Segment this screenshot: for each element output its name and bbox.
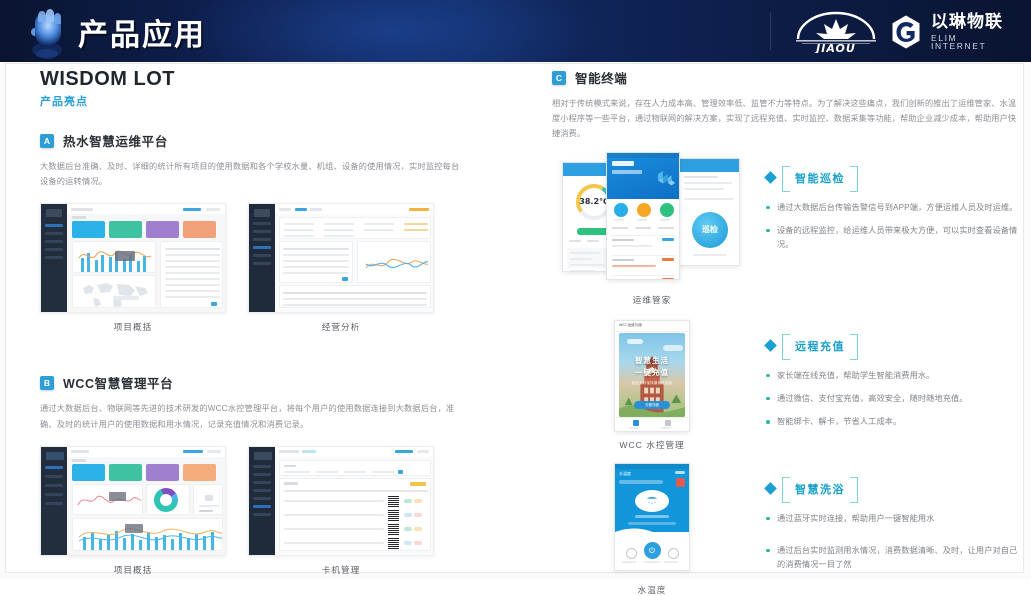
wave-divider-icon <box>615 526 690 538</box>
donut-chart-icon <box>147 485 191 516</box>
jiaou-logo: JIAOU <box>790 9 882 53</box>
section-b: B WCC智慧管理平台 通过大数据后台、物联网等先进的技术研发的WCC水控管理平… <box>40 373 460 575</box>
mini-actions <box>206 208 220 211</box>
feature-wcc-phones: WCC运维与面 <box>552 320 752 436</box>
screenshot-card-machine-wrap: 卡机管理 <box>248 446 434 576</box>
header-glow <box>180 0 600 62</box>
line-chart-icon <box>358 242 432 284</box>
mini-sidebar <box>41 204 67 312</box>
fist-icon <box>18 2 76 60</box>
list-item: 通过蓝牙实时连接，帮助用户一键智能用水 <box>766 512 1020 526</box>
screenshot-business-analysis[interactable] <box>248 203 434 313</box>
patrol-button[interactable]: 巡检 <box>692 212 728 248</box>
feature-wcc: WCC运维与面 <box>552 320 1020 439</box>
mini-content <box>275 214 433 312</box>
page-title: 产品应用 <box>78 10 206 54</box>
wcc-app-title: WCC运维与面 <box>619 323 642 328</box>
mini-filter-panel <box>279 217 431 239</box>
poster-line-1: 智慧生活 <box>619 355 685 366</box>
mini-line-chart-panel <box>357 241 431 283</box>
section-b-title: WCC智慧管理平台 <box>63 373 173 392</box>
tagline-smart-patrol: 智能巡检 <box>766 166 1020 190</box>
screenshot-business-analysis-wrap: 经营分析 <box>248 203 434 333</box>
mini-content <box>67 214 225 312</box>
header-divider <box>770 12 771 50</box>
elim-mark-icon <box>888 14 924 50</box>
feature-ops-caption: 运维管家 <box>552 294 752 306</box>
mini-nav-item <box>45 240 63 243</box>
screenshot-caption: 项目概括 <box>40 321 226 333</box>
section-b-head: B WCC智慧管理平台 <box>40 373 460 392</box>
section-b-body: 通过大数据后台、物联网等先进的技术研发的WCC水控管理平台，将每个用户的使用数据… <box>40 401 460 431</box>
list-item: 通过大数据后台传输告警信号到APP端，方便运维人员及时运维。 <box>766 201 1020 215</box>
page-header: 产品应用 JIAOU 以琳物联 ELIM INTERNET <box>0 0 1031 62</box>
feature-wcc-bullets: 家长端在线充值，帮助学生智能消费用水。 通过微信、支付宝充值，高效安全，随时随地… <box>766 369 1020 430</box>
page-root: 产品应用 JIAOU 以琳物联 ELIM INTERNET WISDOM LOT… <box>0 0 1031 579</box>
mini-world-map-panel <box>72 275 156 308</box>
stat-card <box>109 221 142 238</box>
section-a: A 热水智慧运维平台 大数据后台准确、及时、详细的统计所有项目的使用数据和各个学… <box>40 131 460 333</box>
water-temp-app-title: 水温度 <box>619 471 631 477</box>
wisdom-title: WISDOM LOT <box>40 68 460 91</box>
screenshot-card-machine-management[interactable] <box>248 446 434 556</box>
section-c-badge: C <box>552 71 566 85</box>
feature-ops-text: 智能巡检 通过大数据后台传输告警信号到APP端，方便运维人员及时运维。 设备的远… <box>752 152 1020 262</box>
section-a-screenshots: 项目概括 <box>40 203 460 333</box>
mini-nav-item <box>45 248 63 251</box>
list-item: 设备的远程监控，给运维人员带来极大方便，可以实时查看设备情况。 <box>766 224 1020 253</box>
tagline-label: 智慧洗浴 <box>795 483 845 496</box>
section-b-badge: B <box>40 376 54 390</box>
mini-nav-item <box>45 232 63 235</box>
mini-donut-panel <box>146 484 190 515</box>
screenshot-caption: 项目概括 <box>40 564 226 576</box>
mini-user-chip <box>183 208 201 211</box>
phone-ops-home[interactable] <box>606 152 680 280</box>
mini-bar-chart-panel <box>72 241 156 273</box>
stat-card <box>183 221 216 238</box>
list-item: 通过微信、支付宝充值，高效安全，随时随地充值。 <box>766 392 1020 406</box>
phone-wcc-recharge[interactable]: WCC运维与面 <box>614 320 690 432</box>
avatar <box>676 478 685 487</box>
section-b-screenshots: 项目概括 <box>40 446 460 576</box>
elim-logo-en: ELIM INTERNET <box>931 34 1016 51</box>
mini-bottom-table <box>279 285 431 308</box>
mini-data-table-panel <box>160 241 223 308</box>
feature-water-temp-phone: 水温度 <box>552 463 752 575</box>
screenshot-caption: 经营分析 <box>248 321 434 333</box>
feature-ops-bullets: 通过大数据后台传输告警信号到APP端，方便运维人员及时运维。 设备的远程监控，给… <box>766 201 1020 253</box>
feature-water-temp-caption: 水温度 <box>552 584 752 596</box>
svg-text:38.2℃: 38.2℃ <box>579 197 609 206</box>
screenshot-project-overview-2-wrap: 项目概括 <box>40 446 226 576</box>
stat-card <box>72 221 105 238</box>
power-button[interactable] <box>640 542 664 561</box>
tagline-label: 智能巡检 <box>795 172 845 185</box>
feature-water-temp: 水温度 <box>552 463 1020 582</box>
screenshot-project-overview-wrap: 项目概括 <box>40 203 226 333</box>
wisdom-subtitle: 产品亮点 <box>40 93 460 109</box>
poster-sub: 微信支付宝快捷充值到账 <box>619 380 685 385</box>
diamond-icon <box>764 482 777 495</box>
mini-sidebar <box>41 447 67 555</box>
mini-table-panel <box>279 241 353 283</box>
screenshot-project-overview[interactable] <box>40 203 226 313</box>
section-c-title: 智能终端 <box>575 68 627 87</box>
stat-card <box>109 464 142 481</box>
screenshot-caption: 卡机管理 <box>248 564 434 576</box>
world-map-icon <box>73 276 157 309</box>
poster-line-2: 一键充值 <box>619 367 685 378</box>
list-item: 智能绑卡、解卡，节省人工成本。 <box>766 415 1020 429</box>
mini-content <box>67 457 225 555</box>
feature-ops-phones: 38.2℃ <box>552 152 752 292</box>
list-item: 通过后台实时监测用水情况，消费数据清晰、及时，让用户对自己的消费情况一目了然 <box>766 544 1020 573</box>
section-c-head: C 智能终端 <box>552 68 1020 87</box>
mini-search-panel <box>279 460 431 476</box>
tagline-smart-bathing: 智慧洗浴 <box>766 477 1020 501</box>
tagline-remote-recharge: 远程充值 <box>766 334 1020 358</box>
stat-card <box>183 464 216 481</box>
mini-sidebar <box>249 447 275 555</box>
stat-card <box>146 464 179 481</box>
left-column: WISDOM LOT 产品亮点 A 热水智慧运维平台 大数据后台准确、及时、详细… <box>40 68 460 576</box>
mini-line-panel <box>72 484 143 515</box>
mini-nav-item <box>45 224 63 227</box>
feature-ops-butler: 38.2℃ <box>552 152 1020 292</box>
stat-card <box>72 464 105 481</box>
section-c-body: 相对于传统模式来说，存在人力成本高、管理效率低、监管不力等特点。为了解决这些痛点… <box>552 96 1020 142</box>
poster-button[interactable]: 去看详细 <box>634 401 670 409</box>
section-a-badge: A <box>40 134 54 148</box>
svg-text:JIAOU: JIAOU <box>814 42 856 53</box>
section-a-body: 大数据后台准确、及时、详细的统计所有项目的使用数据和各个学校水量、机组、设备的使… <box>40 159 460 189</box>
mini-breadcrumb <box>71 208 93 211</box>
feature-water-temp-text: 智慧洗浴 通过蓝牙实时连接，帮助用户一键智能用水 通过后台实时监测用水情况，消费… <box>752 463 1020 582</box>
list-item: 家长端在线充值，帮助学生智能消费用水。 <box>766 369 1020 383</box>
stat-card <box>146 221 179 238</box>
mini-logo <box>46 209 62 217</box>
mini-info-panel <box>193 484 223 515</box>
elim-logo-cn: 以琳物联 <box>931 14 1016 31</box>
mini-combo-chart-panel <box>72 518 223 551</box>
mini-section-label <box>72 216 86 219</box>
phone-water-temperature[interactable]: 水温度 <box>614 463 690 571</box>
mini-nav-item <box>45 256 63 259</box>
section-a-head: A 热水智慧运维平台 <box>40 131 460 150</box>
phone-patrol-detail[interactable]: 巡检 <box>678 158 740 266</box>
screenshot-project-overview-2[interactable] <box>40 446 226 556</box>
diamond-icon <box>764 339 777 352</box>
feature-wcc-text: 远程充值 家长端在线充值，帮助学生智能消费用水。 通过微信、支付宝充值，高效安全… <box>752 320 1020 439</box>
shower-head-icon <box>635 490 669 512</box>
mini-sidebar <box>249 204 275 312</box>
mini-logo <box>254 209 270 217</box>
feature-water-temp-bullets: 通过蓝牙实时连接，帮助用户一键智能用水 通过后台实时监测用水情况，消费数据清晰、… <box>766 512 1020 573</box>
diamond-icon <box>764 171 777 184</box>
tagline-label: 远程充值 <box>795 340 845 353</box>
section-a-title: 热水智慧运维平台 <box>63 131 168 150</box>
mini-records-table <box>279 478 431 551</box>
elim-logo: 以琳物联 ELIM INTERNET <box>888 12 1016 52</box>
right-column: C 智能终端 相对于传统模式来说，存在人力成本高、管理效率低、监管不力等特点。为… <box>552 68 1020 596</box>
feature-wcc-caption: WCC 水控管理 <box>552 439 752 451</box>
isometric-building-icon <box>633 153 679 199</box>
mini-content <box>275 457 433 555</box>
